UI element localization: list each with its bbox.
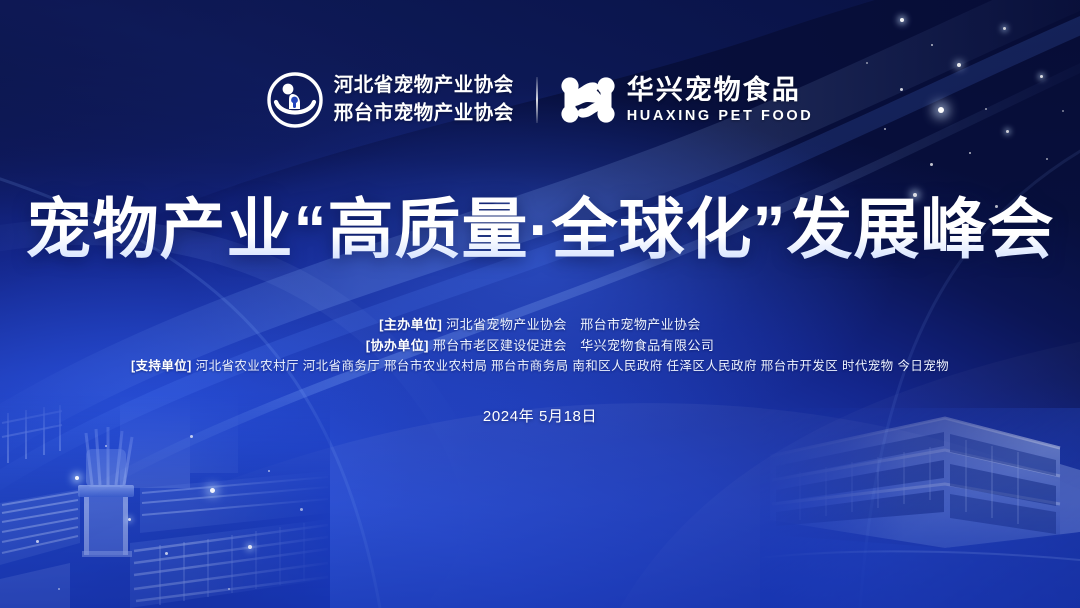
credit-value-host: 河北省宠物产业协会 邢台市宠物产业协会 bbox=[446, 317, 701, 332]
association-line-2: 邢台市宠物产业协会 bbox=[334, 101, 514, 127]
association-name: 河北省宠物产业协会 邢台市宠物产业协会 bbox=[334, 73, 514, 126]
page-title: 宠物产业“高质量·全球化”发展峰会 bbox=[0, 176, 1080, 272]
credit-tag-supporters: [支持单位] bbox=[131, 359, 192, 373]
brand-logo-block: 华兴宠物食品 HUAXING PET FOOD bbox=[560, 76, 814, 125]
credit-value-coorganizer: 邢台市老区建设促进会 华兴宠物食品有限公司 bbox=[433, 338, 714, 353]
huaxing-molecule-logo-icon bbox=[560, 76, 616, 124]
logo-header: 河北省宠物产业协会 邢台市宠物产业协会 bbox=[0, 72, 1080, 128]
association-logo-block: 河北省宠物产业协会 邢台市宠物产业协会 bbox=[267, 72, 514, 128]
brand-name-en: HUAXING PET FOOD bbox=[627, 108, 814, 124]
modern-factory-building-photo bbox=[760, 408, 1080, 608]
credits-block: [主办单位]河北省宠物产业协会 邢台市宠物产业协会 [协办单位]邢台市老区建设促… bbox=[0, 314, 1080, 377]
brand-name: 华兴宠物食品 HUAXING PET FOOD bbox=[627, 76, 814, 125]
credit-tag-host: [主办单位] bbox=[379, 317, 442, 332]
brand-name-cn: 华兴宠物食品 bbox=[627, 76, 814, 106]
association-line-1: 河北省宠物产业协会 bbox=[334, 73, 514, 99]
credit-line-supporters: [支持单位]河北省农业农村厅 河北省商务厅 邢台市农业农村局 邢台市商务局 南和… bbox=[0, 356, 1080, 377]
credit-tag-coorganizer: [协办单位] bbox=[366, 338, 429, 353]
event-date: 2024年 5月18日 bbox=[0, 405, 1080, 426]
credit-line-coorganizer: [协办单位]邢台市老区建设促进会 华兴宠物食品有限公司 bbox=[0, 335, 1080, 356]
vertical-divider-icon bbox=[536, 77, 538, 123]
pet-circle-emblem-icon bbox=[267, 72, 323, 128]
poster-canvas: 河北省宠物产业协会 邢台市宠物产业协会 bbox=[0, 0, 1080, 608]
credit-line-host: [主办单位]河北省宠物产业协会 邢台市宠物产业协会 bbox=[0, 314, 1080, 335]
credit-value-supporters: 河北省农业农村厅 河北省商务厅 邢台市农业农村局 邢台市商务局 南和区人民政府 … bbox=[196, 359, 949, 373]
